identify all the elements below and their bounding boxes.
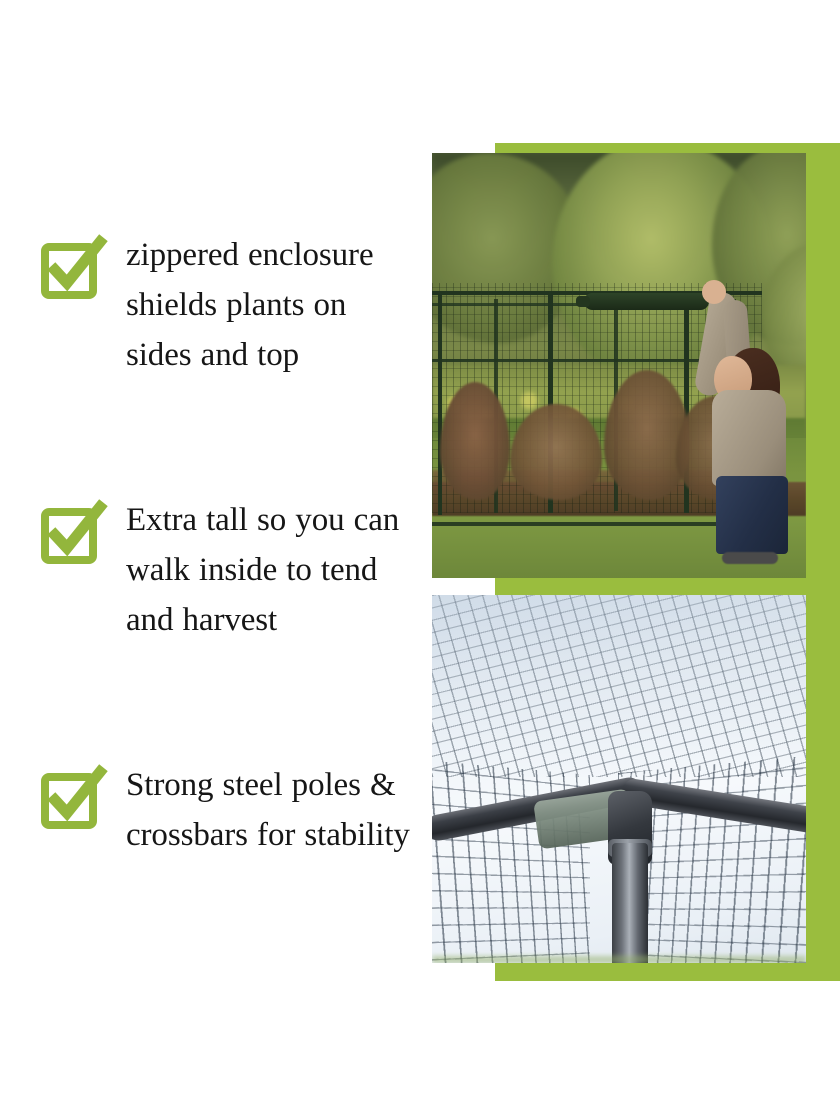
photo-woman-garden-enclosure bbox=[432, 153, 806, 578]
person-figure bbox=[678, 260, 796, 560]
feature-panel: zippered enclosure shields plants on sid… bbox=[0, 0, 840, 1120]
feature-item: Strong steel poles & crossbars for stabi… bbox=[40, 760, 418, 860]
feature-text: zippered enclosure shields plants on sid… bbox=[126, 230, 418, 380]
media-stack bbox=[432, 143, 840, 983]
photo-corner-joint-closeup bbox=[432, 595, 806, 963]
feature-item: Extra tall so you can walk inside to ten… bbox=[40, 495, 418, 645]
checkbox-checked-icon bbox=[40, 238, 102, 300]
checkbox-checked-icon bbox=[40, 768, 102, 830]
feature-text: Extra tall so you can walk inside to ten… bbox=[126, 495, 418, 645]
feature-item: zippered enclosure shields plants on sid… bbox=[40, 230, 418, 380]
feature-text: Strong steel poles & crossbars for stabi… bbox=[126, 760, 418, 860]
checkbox-checked-icon bbox=[40, 503, 102, 565]
